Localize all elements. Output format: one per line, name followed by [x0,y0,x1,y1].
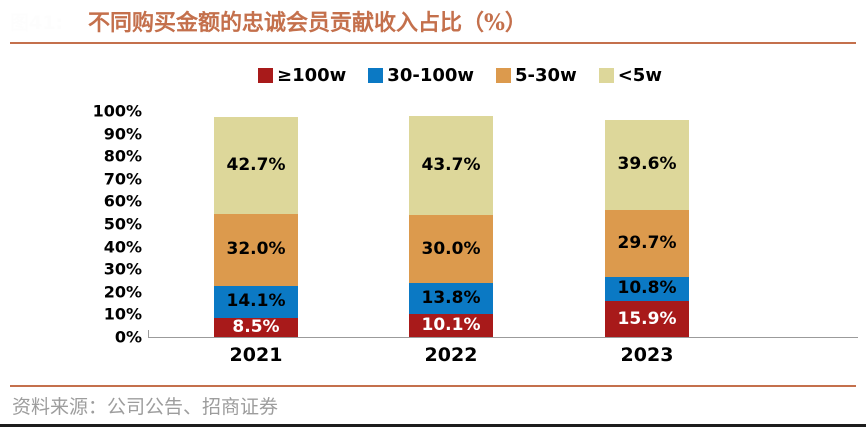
legend-label: ≥100w [277,65,346,86]
header-divider [10,42,856,44]
legend-item-0[interactable]: ≥100w [258,65,346,86]
legend-swatch-icon [258,68,273,83]
legend-swatch-icon [599,68,614,83]
stacked-bar[interactable]: 10.1%13.8%30.0%43.7% [409,116,493,337]
legend-item-1[interactable]: 30-100w [368,65,474,86]
bar-segment-<5w[interactable]: 42.7% [214,117,298,214]
chart-legend: ≥100w30-100w5-30w<5w [258,65,662,86]
x-axis-tick-label: 2022 [391,344,511,366]
y-axis-tick-label: 40% [82,237,142,256]
y-axis-origin-tick [148,330,149,337]
bar-value-label: 42.7% [227,157,286,174]
legend-item-2[interactable]: 5-30w [496,65,577,86]
legend-item-3[interactable]: <5w [599,65,662,86]
plot-area: 8.5%14.1%32.0%42.7%10.1%13.8%30.0%43.7%1… [148,111,858,337]
bar-segment-≥100w[interactable]: 8.5% [214,318,298,337]
legend-label: 5-30w [515,65,577,86]
bar-segment-30-100w[interactable]: 10.8% [605,277,689,301]
bar-value-label: 39.6% [618,156,677,173]
page-title: 不同购买金额的忠诚会员贡献收入占比（%） [88,5,527,37]
bar-segment-5-30w[interactable]: 32.0% [214,214,298,286]
y-axis-tick-label: 30% [82,260,142,279]
bar-segment-≥100w[interactable]: 15.9% [605,301,689,337]
stacked-bar[interactable]: 8.5%14.1%32.0%42.7% [214,117,298,337]
bar-value-label: 43.7% [422,157,481,174]
bar-value-label: 10.8% [618,280,677,297]
stacked-bar[interactable]: 15.9%10.8%29.7%39.6% [605,120,689,337]
figure-number-label: 图41: [10,8,63,35]
bar-segment-5-30w[interactable]: 30.0% [409,215,493,283]
legend-swatch-icon [368,68,383,83]
x-axis-tick-label: 2021 [196,344,316,366]
figure-panel: 图41: 不同购买金额的忠诚会员贡献收入占比（%） ≥100w30-100w5-… [0,0,866,427]
bar-value-label: 14.1% [227,293,286,310]
bar-value-label: 8.5% [232,319,279,336]
bar-segment-30-100w[interactable]: 13.8% [409,283,493,314]
bar-segment-≥100w[interactable]: 10.1% [409,314,493,337]
bar-value-label: 32.0% [227,241,286,258]
y-axis-tick-label: 90% [82,124,142,143]
y-axis-tick-label: 80% [82,147,142,166]
y-axis-labels: 100%90%80%70%60%50%40%30%20%10%0% [82,111,142,337]
legend-swatch-icon [496,68,511,83]
bar-segment-<5w[interactable]: 43.7% [409,116,493,215]
y-axis-tick-label: 50% [82,215,142,234]
bar-value-label: 13.8% [422,290,481,307]
y-axis-tick-label: 20% [82,282,142,301]
footer-divider [10,385,856,387]
y-axis-tick-label: 60% [82,192,142,211]
bar-value-label: 29.7% [618,235,677,252]
y-axis-tick-label: 100% [82,102,142,121]
y-axis-tick-label: 0% [82,328,142,347]
bar-value-label: 15.9% [618,311,677,328]
bar-value-label: 10.1% [422,317,481,334]
bar-segment-<5w[interactable]: 39.6% [605,120,689,209]
legend-label: <5w [618,65,662,86]
y-axis-tick-label: 10% [82,305,142,324]
x-axis-tick-label: 2023 [587,344,707,366]
x-axis-line [148,337,858,338]
legend-label: 30-100w [387,65,474,86]
source-note: 资料来源：公司公告、招商证券 [12,392,278,419]
bar-segment-30-100w[interactable]: 14.1% [214,286,298,318]
bar-segment-5-30w[interactable]: 29.7% [605,210,689,277]
y-axis-tick-label: 70% [82,169,142,188]
bar-value-label: 30.0% [422,241,481,258]
